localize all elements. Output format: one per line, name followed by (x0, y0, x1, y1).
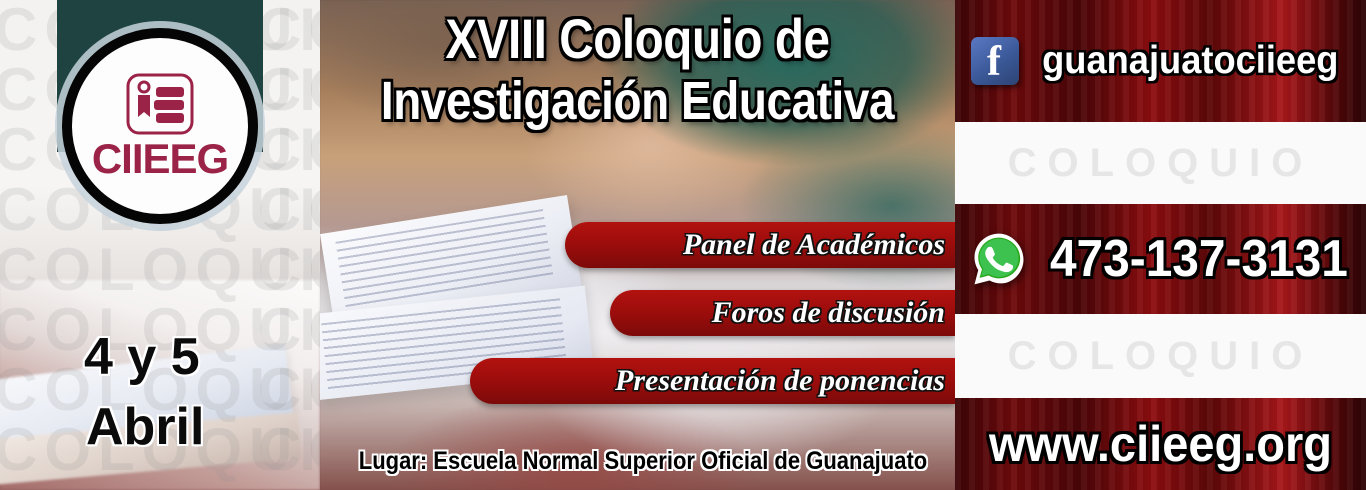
books-document-icon (123, 71, 197, 139)
activity-pill: Panel de Académicos (565, 222, 955, 268)
facebook-contact[interactable]: f guanajuatociieeg (955, 37, 1366, 85)
activity-label: Panel de Académicos (683, 228, 945, 262)
left-panel: COLOQUIO COLOQUIO COLOQUIO COLOQUIO COLO… (0, 0, 320, 490)
event-date-days: 4 y 5 (84, 328, 200, 386)
logo-acronym: CIIEEG (92, 137, 228, 181)
event-title-line-1: XVIII Coloquio de (368, 8, 908, 70)
facebook-icon[interactable]: f (971, 37, 1019, 85)
event-date-month: Abril (86, 398, 204, 456)
activity-label: Presentación de ponencias (615, 364, 945, 398)
website-row[interactable]: www.ciieeg.org (955, 415, 1366, 473)
facebook-band: f guanajuatociieeg (955, 0, 1366, 122)
watermark-word: COLOQUIO (258, 240, 320, 300)
activity-label: Foros de discusión (712, 296, 945, 330)
event-title-line-2: Investigación Educativa (368, 70, 908, 132)
center-panel: XVIII Coloquio de Investigación Educativ… (320, 0, 955, 490)
watermark-word: COLOQUIO (258, 0, 320, 60)
right-panel: f guanajuatociieeg COLOQUIO 473-137-3131… (955, 0, 1366, 490)
whatsapp-icon[interactable] (971, 231, 1027, 287)
venue-text: Lugar: Escuela Normal Superior Oficial d… (359, 447, 927, 476)
watermark-band-upper: COLOQUIO (955, 122, 1366, 204)
watermark-word: COLOQUIO (258, 60, 320, 120)
whatsapp-contact[interactable]: 473-137-3131 (955, 231, 1366, 287)
watermark-word: COLOQUIO (1008, 141, 1314, 186)
facebook-glyph: f (987, 40, 1001, 84)
event-banner: COLOQUIO COLOQUIO COLOQUIO COLOQUIO COLO… (0, 0, 1366, 490)
activity-pill: Presentación de ponencias (470, 358, 955, 404)
website-url[interactable]: www.ciieeg.org (989, 415, 1332, 473)
venue-line: Lugar: Escuela Normal Superior Oficial d… (320, 447, 955, 476)
event-date: 4 y 5 Abril 2025 (60, 320, 310, 480)
event-title: XVIII Coloquio de Investigación Educativ… (320, 8, 955, 132)
website-band: www.ciieeg.org (955, 398, 1366, 490)
watermark-word: COLOQUIO (258, 180, 320, 240)
watermark-word: COLOQUIO (1008, 334, 1314, 379)
whatsapp-phone[interactable]: 473-137-3131 (1050, 231, 1348, 287)
whatsapp-band: 473-137-3131 (955, 204, 1366, 314)
activity-pill: Foros de discusión (610, 290, 955, 336)
watermark-word: COLOQUIO (258, 120, 320, 180)
ciieeg-logo: CIIEEG (62, 28, 258, 224)
watermark-band-lower: COLOQUIO (955, 314, 1366, 398)
facebook-handle[interactable]: guanajuatociieeg (1042, 39, 1338, 83)
